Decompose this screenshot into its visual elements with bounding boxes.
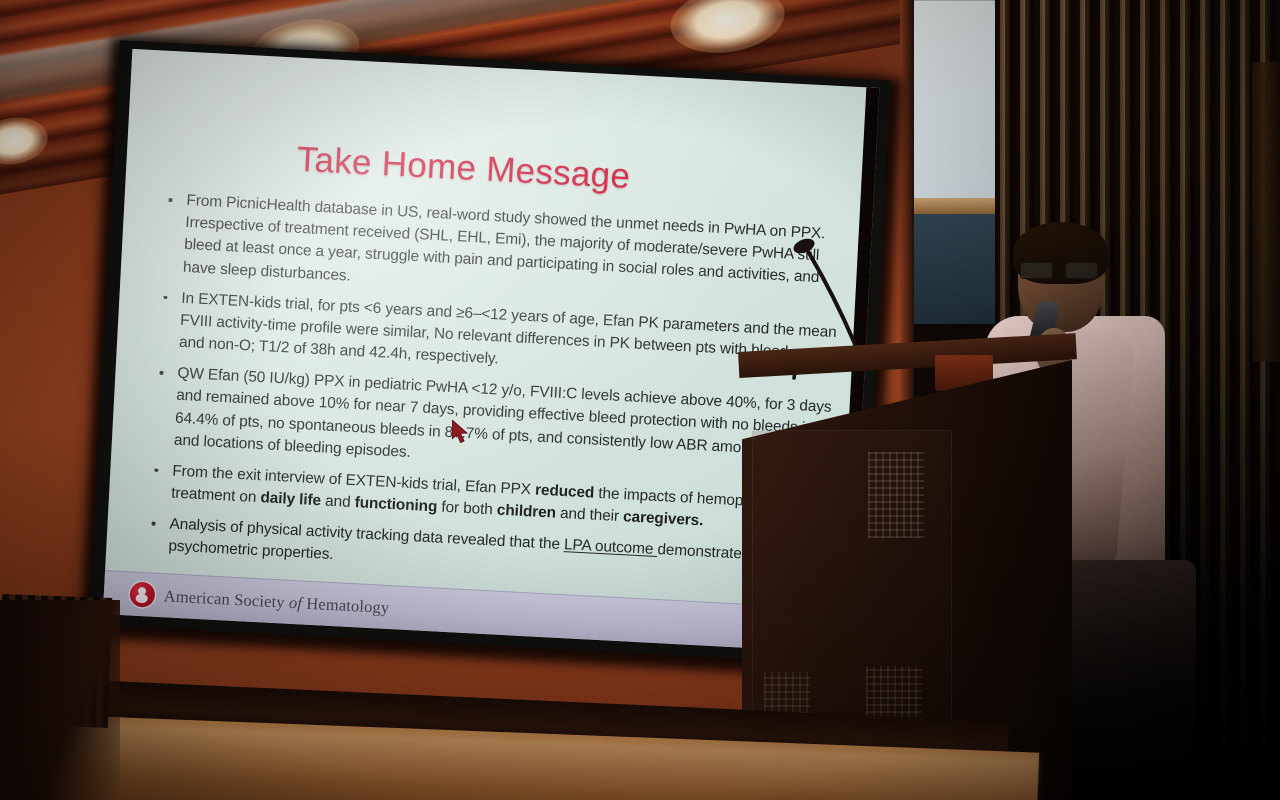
left-floor-shadow <box>0 600 120 800</box>
slide-footer-organization: American Society of Hematology <box>163 586 390 618</box>
ash-logo-icon <box>129 582 155 608</box>
mouse-cursor-icon <box>452 420 472 446</box>
podium-speaker-grille <box>866 666 922 720</box>
screenshot-root: Take Home Message From PicnicHealth data… <box>0 0 1280 800</box>
slide-title: Take Home Message <box>296 140 757 204</box>
podium-speaker-grille <box>868 452 924 538</box>
lecture-room: Take Home Message From PicnicHealth data… <box>0 0 1280 800</box>
eyeglasses-icon <box>1018 262 1102 278</box>
podium-speaker-grille <box>764 672 810 714</box>
